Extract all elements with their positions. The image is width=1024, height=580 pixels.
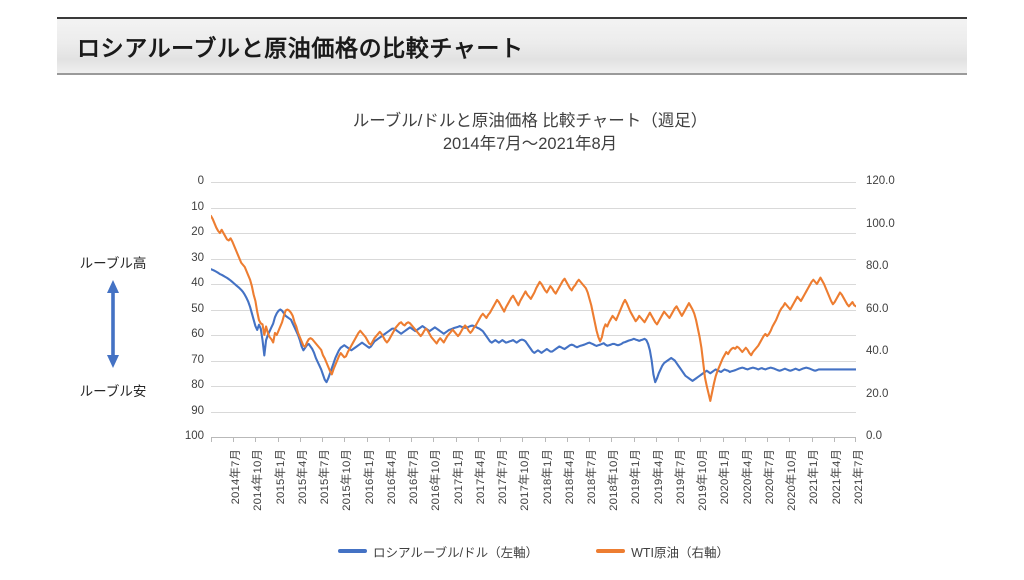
chart-title-block: ルーブル/ドルと原油価格 比較チャート（週足） 2014年7月〜2021年8月 (200, 110, 860, 156)
x-axis-label: 2019年10月 (694, 449, 710, 511)
x-axis-label: 2014年10月 (249, 449, 265, 511)
x-axis-tick (656, 437, 657, 442)
x-axis-tick (367, 437, 368, 442)
right-tick-label: 40.0 (866, 346, 888, 357)
x-axis-tick (834, 437, 835, 442)
legend-item-ruble[interactable]: ロシアルーブル/ドル（左軸） (338, 542, 538, 561)
x-axis-tick (567, 437, 568, 442)
x-axis-tick (211, 437, 212, 442)
x-axis-tick (611, 437, 612, 442)
x-axis-tick (700, 437, 701, 442)
x-axis-label: 2017年7月 (494, 449, 510, 504)
x-axis-tick (389, 437, 390, 442)
left-axis-labels: 0102030405060708090100 (168, 182, 204, 437)
double-arrow-vertical-icon (48, 278, 178, 375)
x-axis-tick (855, 437, 856, 442)
left-tick-label: 60 (191, 329, 204, 340)
left-tick-label: 20 (191, 227, 204, 238)
series-lines (211, 216, 856, 401)
x-axis-tick (678, 437, 679, 442)
left-tick-label: 90 (191, 406, 204, 417)
x-axis-label: 2016年1月 (361, 449, 377, 504)
x-axis-tick (812, 437, 813, 442)
right-tick-label: 100.0 (866, 219, 895, 230)
x-axis-tick (789, 437, 790, 442)
x-axis-tick (456, 437, 457, 442)
right-tick-label: 0.0 (866, 431, 882, 442)
x-axis-tick (522, 437, 523, 442)
x-axis-label: 2016年10月 (427, 449, 443, 511)
x-axis-tick (767, 437, 768, 442)
x-axis-label: 2016年7月 (405, 449, 421, 504)
annotation-top-label: ルーブル高 (48, 252, 178, 272)
x-axis-tick (478, 437, 479, 442)
slide-root: ロシアルーブルと原油価格の比較チャート ルーブル/ドルと原油価格 比較チャート（… (0, 0, 1024, 580)
x-axis-label: 2015年4月 (294, 449, 310, 504)
x-axis-tick (500, 437, 501, 442)
x-axis-tick (634, 437, 635, 442)
chart-legend: ロシアルーブル/ドル（左軸） WTI原油（右軸） (211, 540, 856, 562)
legend-item-wti[interactable]: WTI原油（右軸） (596, 542, 729, 561)
annotation-bottom-label: ルーブル安 (48, 380, 178, 400)
x-axis-label: 2021年1月 (805, 449, 821, 504)
right-tick-label: 120.0 (866, 176, 895, 187)
x-axis-label: 2019年4月 (650, 449, 666, 504)
x-axis-label: 2020年4月 (739, 449, 755, 504)
x-axis-tick (344, 437, 345, 442)
x-axis-line (211, 437, 856, 438)
x-axis-label: 2018年1月 (539, 449, 555, 504)
x-axis-labels: 2014年7月2014年10月2015年1月2015年4月2015年7月2015… (211, 449, 856, 529)
x-axis-label: 2021年7月 (850, 449, 866, 504)
x-axis-tick (255, 437, 256, 442)
x-axis-label: 2018年10月 (605, 449, 621, 511)
left-tick-label: 10 (191, 202, 204, 213)
page-title: ロシアルーブルと原油価格の比較チャート (57, 29, 524, 63)
x-axis-tick (233, 437, 234, 442)
x-axis-label: 2018年4月 (561, 449, 577, 504)
left-tick-label: 40 (191, 278, 204, 289)
left-tick-label: 100 (185, 431, 204, 442)
x-axis-label: 2015年7月 (316, 449, 332, 504)
ruble-direction-annotation: ルーブル高 ルーブル安 (48, 252, 178, 400)
x-axis-tick (322, 437, 323, 442)
x-axis-label: 2017年10月 (516, 449, 532, 511)
right-tick-label: 60.0 (866, 304, 888, 315)
right-tick-label: 80.0 (866, 261, 888, 272)
x-axis-label: 2017年1月 (450, 449, 466, 504)
x-axis-label: 2017年4月 (472, 449, 488, 504)
header-band: ロシアルーブルと原油価格の比較チャート (57, 17, 967, 75)
left-tick-label: 0 (198, 176, 204, 187)
right-axis-labels: 0.020.040.060.080.0100.0120.0 (866, 182, 926, 437)
x-axis-label: 2015年10月 (338, 449, 354, 511)
x-axis-label: 2019年7月 (672, 449, 688, 504)
series-line-wti (211, 216, 856, 401)
x-axis-label: 2020年7月 (761, 449, 777, 504)
x-axis-tick (411, 437, 412, 442)
x-axis-tick (300, 437, 301, 442)
x-axis-label: 2020年1月 (716, 449, 732, 504)
left-tick-label: 50 (191, 304, 204, 315)
legend-swatch-wti (596, 549, 625, 553)
legend-swatch-ruble (338, 549, 367, 553)
gridlines (211, 183, 856, 438)
x-axis-label: 2019年1月 (627, 449, 643, 504)
left-tick-label: 30 (191, 253, 204, 264)
x-axis-tick (589, 437, 590, 442)
x-axis-tick (433, 437, 434, 442)
x-axis-tick (723, 437, 724, 442)
x-axis-label: 2015年1月 (272, 449, 288, 504)
legend-label-ruble: ロシアルーブル/ドル（左軸） (373, 542, 538, 561)
chart-canvas (211, 182, 856, 437)
x-axis-label: 2014年7月 (227, 449, 243, 504)
x-axis-tick (278, 437, 279, 442)
plot-area (211, 182, 856, 437)
left-tick-label: 80 (191, 380, 204, 391)
x-axis-label: 2021年4月 (828, 449, 844, 504)
x-axis-label: 2018年7月 (583, 449, 599, 504)
chart-title: ルーブル/ドルと原油価格 比較チャート（週足） (200, 110, 860, 133)
chart-subtitle: 2014年7月〜2021年8月 (200, 133, 860, 156)
x-axis-tick (745, 437, 746, 442)
left-tick-label: 70 (191, 355, 204, 366)
legend-label-wti: WTI原油（右軸） (631, 542, 729, 561)
x-axis-label: 2016年4月 (383, 449, 399, 504)
right-tick-label: 20.0 (866, 389, 888, 400)
series-line-ruble (211, 269, 856, 382)
x-axis-tick (545, 437, 546, 442)
x-axis-label: 2020年10月 (783, 449, 799, 511)
